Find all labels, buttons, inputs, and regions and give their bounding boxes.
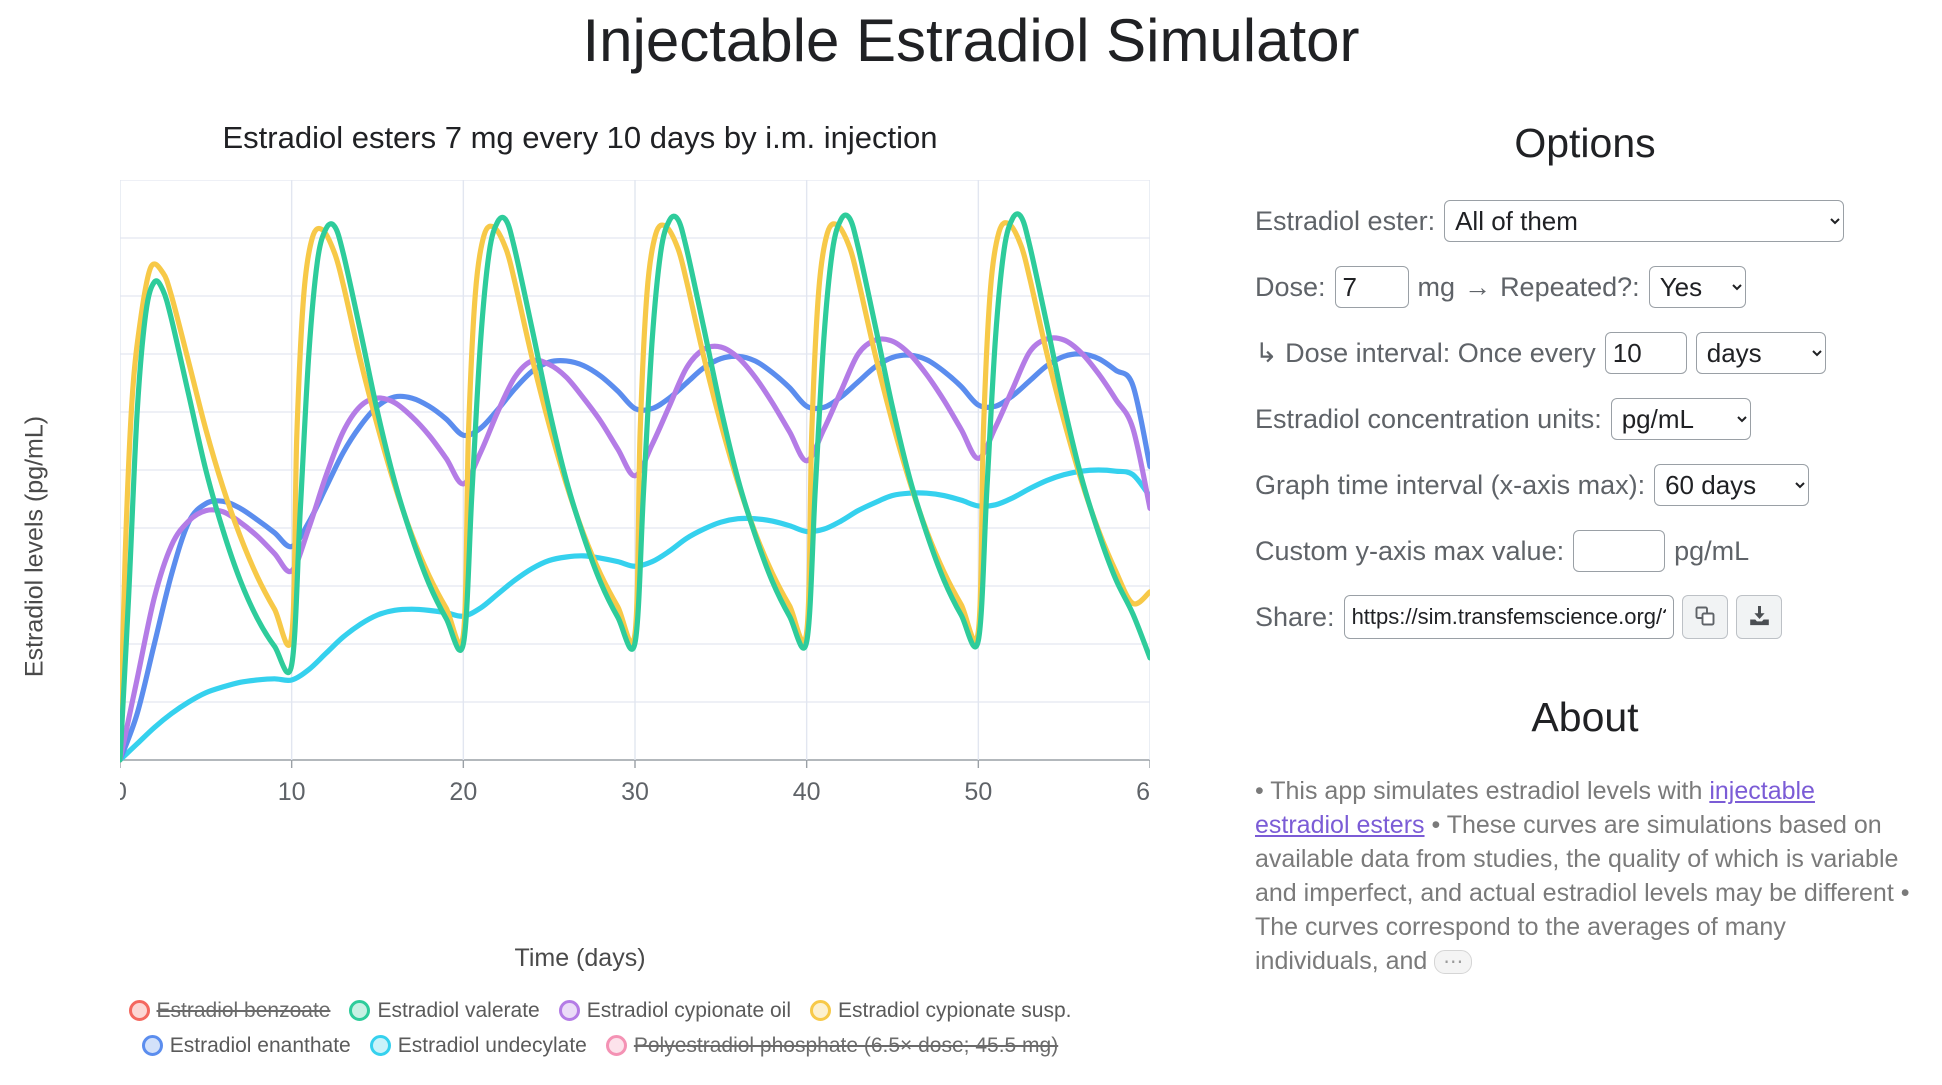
legend-item-label: Estradiol enanthate bbox=[170, 1034, 351, 1058]
graph-time-interval-label: Graph time interval (x-axis max): bbox=[1255, 470, 1645, 501]
dose-unit-label: mg bbox=[1418, 272, 1456, 303]
legend-marker-icon bbox=[810, 1000, 831, 1021]
chart-panel: Estradiol esters 7 mg every 10 days by i… bbox=[0, 120, 1190, 1085]
plot-wrapper: Estradiol levels (pg/mL) Time (days) 050… bbox=[0, 172, 1160, 982]
x-tick-label: 10 bbox=[278, 778, 306, 806]
legend-item-polyestradiol-phosphate-6-5-dose-45-5-mg[interactable]: Polyestradiol phosphate (6.5× dose; 45.5… bbox=[606, 1034, 1058, 1058]
dose-interval-unit-select[interactable]: daysweeksmonths bbox=[1696, 332, 1826, 374]
legend-item-label: Polyestradiol phosphate (6.5× dose; 45.5… bbox=[634, 1034, 1058, 1058]
legend-item-estradiol-cypionate-oil[interactable]: Estradiol cypionate oil bbox=[559, 999, 791, 1023]
dose-interval-label: ↳ Dose interval: Once every bbox=[1255, 338, 1596, 369]
legend-row-bottom: Estradiol enanthateEstradiol undecylateP… bbox=[95, 1028, 1105, 1063]
option-row-dose: Dose: mg → Repeated?: YesNo bbox=[1255, 266, 1915, 308]
legend-row-top: Estradiol benzoateEstradiol valerateEstr… bbox=[95, 993, 1105, 1028]
dose-input[interactable] bbox=[1335, 266, 1409, 308]
chart-legend: Estradiol benzoateEstradiol valerateEstr… bbox=[95, 993, 1105, 1063]
page-title: Injectable Estradiol Simulator bbox=[0, 6, 1942, 75]
legend-marker-icon bbox=[349, 1000, 370, 1021]
y-axis-title: Estradiol levels (pg/mL) bbox=[21, 267, 50, 827]
legend-item-label: Estradiol benzoate bbox=[157, 999, 331, 1023]
option-row-interval: ↳ Dose interval: Once every daysweeksmon… bbox=[1255, 332, 1915, 374]
about-part-1: • This app simulates estradiol levels wi… bbox=[1255, 777, 1709, 805]
option-row-share: Share: bbox=[1255, 596, 1915, 638]
option-row-ester: Estradiol ester: All of them bbox=[1255, 200, 1915, 242]
x-tick-label: 0 bbox=[120, 778, 127, 806]
dose-interval-input[interactable] bbox=[1605, 332, 1687, 374]
chart-title: Estradiol esters 7 mg every 10 days by i… bbox=[0, 120, 1160, 156]
show-more-button[interactable]: ⋯ bbox=[1434, 950, 1472, 974]
x-tick-label: 60 bbox=[1136, 778, 1150, 806]
legend-item-label: Estradiol undecylate bbox=[398, 1034, 587, 1058]
about-heading: About bbox=[1255, 694, 1915, 741]
x-tick-label: 40 bbox=[793, 778, 821, 806]
x-tick-label: 50 bbox=[964, 778, 992, 806]
estradiol-ester-select[interactable]: All of them bbox=[1444, 200, 1844, 242]
x-tick-label: 20 bbox=[449, 778, 477, 806]
legend-item-estradiol-valerate[interactable]: Estradiol valerate bbox=[349, 999, 539, 1023]
app-root: Injectable Estradiol Simulator Estradiol… bbox=[0, 0, 1942, 1085]
plot-area[interactable]: 0501001502002503003504004505000102030405… bbox=[120, 180, 1150, 760]
about-text: • This app simulates estradiol levels wi… bbox=[1255, 774, 1915, 978]
legend-item-estradiol-benzoate[interactable]: Estradiol benzoate bbox=[129, 999, 331, 1023]
legend-marker-icon bbox=[129, 1000, 150, 1021]
options-panel: Options Estradiol ester: All of them Dos… bbox=[1255, 120, 1915, 978]
dose-label: Dose: bbox=[1255, 272, 1326, 303]
custom-ymax-label: Custom y-axis max value: bbox=[1255, 536, 1564, 567]
option-row-ymax: Custom y-axis max value: pg/mL bbox=[1255, 530, 1915, 572]
legend-item-estradiol-enanthate[interactable]: Estradiol enanthate bbox=[142, 1034, 351, 1058]
custom-ymax-unit-label: pg/mL bbox=[1674, 536, 1749, 567]
repeated-select[interactable]: YesNo bbox=[1649, 266, 1746, 308]
x-axis-title: Time (days) bbox=[0, 944, 1160, 973]
concentration-units-label: Estradiol concentration units: bbox=[1255, 404, 1602, 435]
option-row-xmax: Graph time interval (x-axis max): 60 day… bbox=[1255, 464, 1915, 506]
option-row-units: Estradiol concentration units: pg/mLpmol… bbox=[1255, 398, 1915, 440]
legend-item-label: Estradiol valerate bbox=[377, 999, 539, 1023]
custom-ymax-input[interactable] bbox=[1573, 530, 1665, 572]
copy-icon bbox=[1693, 604, 1717, 631]
copy-link-button[interactable] bbox=[1682, 595, 1728, 639]
legend-marker-icon bbox=[559, 1000, 580, 1021]
legend-item-label: Estradiol cypionate oil bbox=[587, 999, 791, 1023]
legend-marker-icon bbox=[606, 1035, 627, 1056]
download-icon bbox=[1747, 604, 1771, 631]
chart-svg[interactable]: 0501001502002503003504004505000102030405… bbox=[120, 180, 1150, 820]
share-url-input[interactable] bbox=[1344, 595, 1674, 639]
arrow-icon: → bbox=[1464, 272, 1491, 303]
x-tick-label: 30 bbox=[621, 778, 649, 806]
ester-label: Estradiol ester: bbox=[1255, 206, 1435, 237]
legend-item-estradiol-cypionate-susp[interactable]: Estradiol cypionate susp. bbox=[810, 999, 1071, 1023]
legend-marker-icon bbox=[142, 1035, 163, 1056]
legend-item-label: Estradiol cypionate susp. bbox=[838, 999, 1071, 1023]
repeated-label: Repeated?: bbox=[1500, 272, 1640, 303]
concentration-units-select[interactable]: pg/mLpmol/L bbox=[1611, 398, 1751, 440]
share-label: Share: bbox=[1255, 602, 1335, 633]
legend-item-estradiol-undecylate[interactable]: Estradiol undecylate bbox=[370, 1034, 587, 1058]
legend-marker-icon bbox=[370, 1035, 391, 1056]
download-button[interactable] bbox=[1736, 595, 1782, 639]
options-heading: Options bbox=[1255, 120, 1915, 167]
graph-time-interval-select[interactable]: 60 days bbox=[1654, 464, 1809, 506]
